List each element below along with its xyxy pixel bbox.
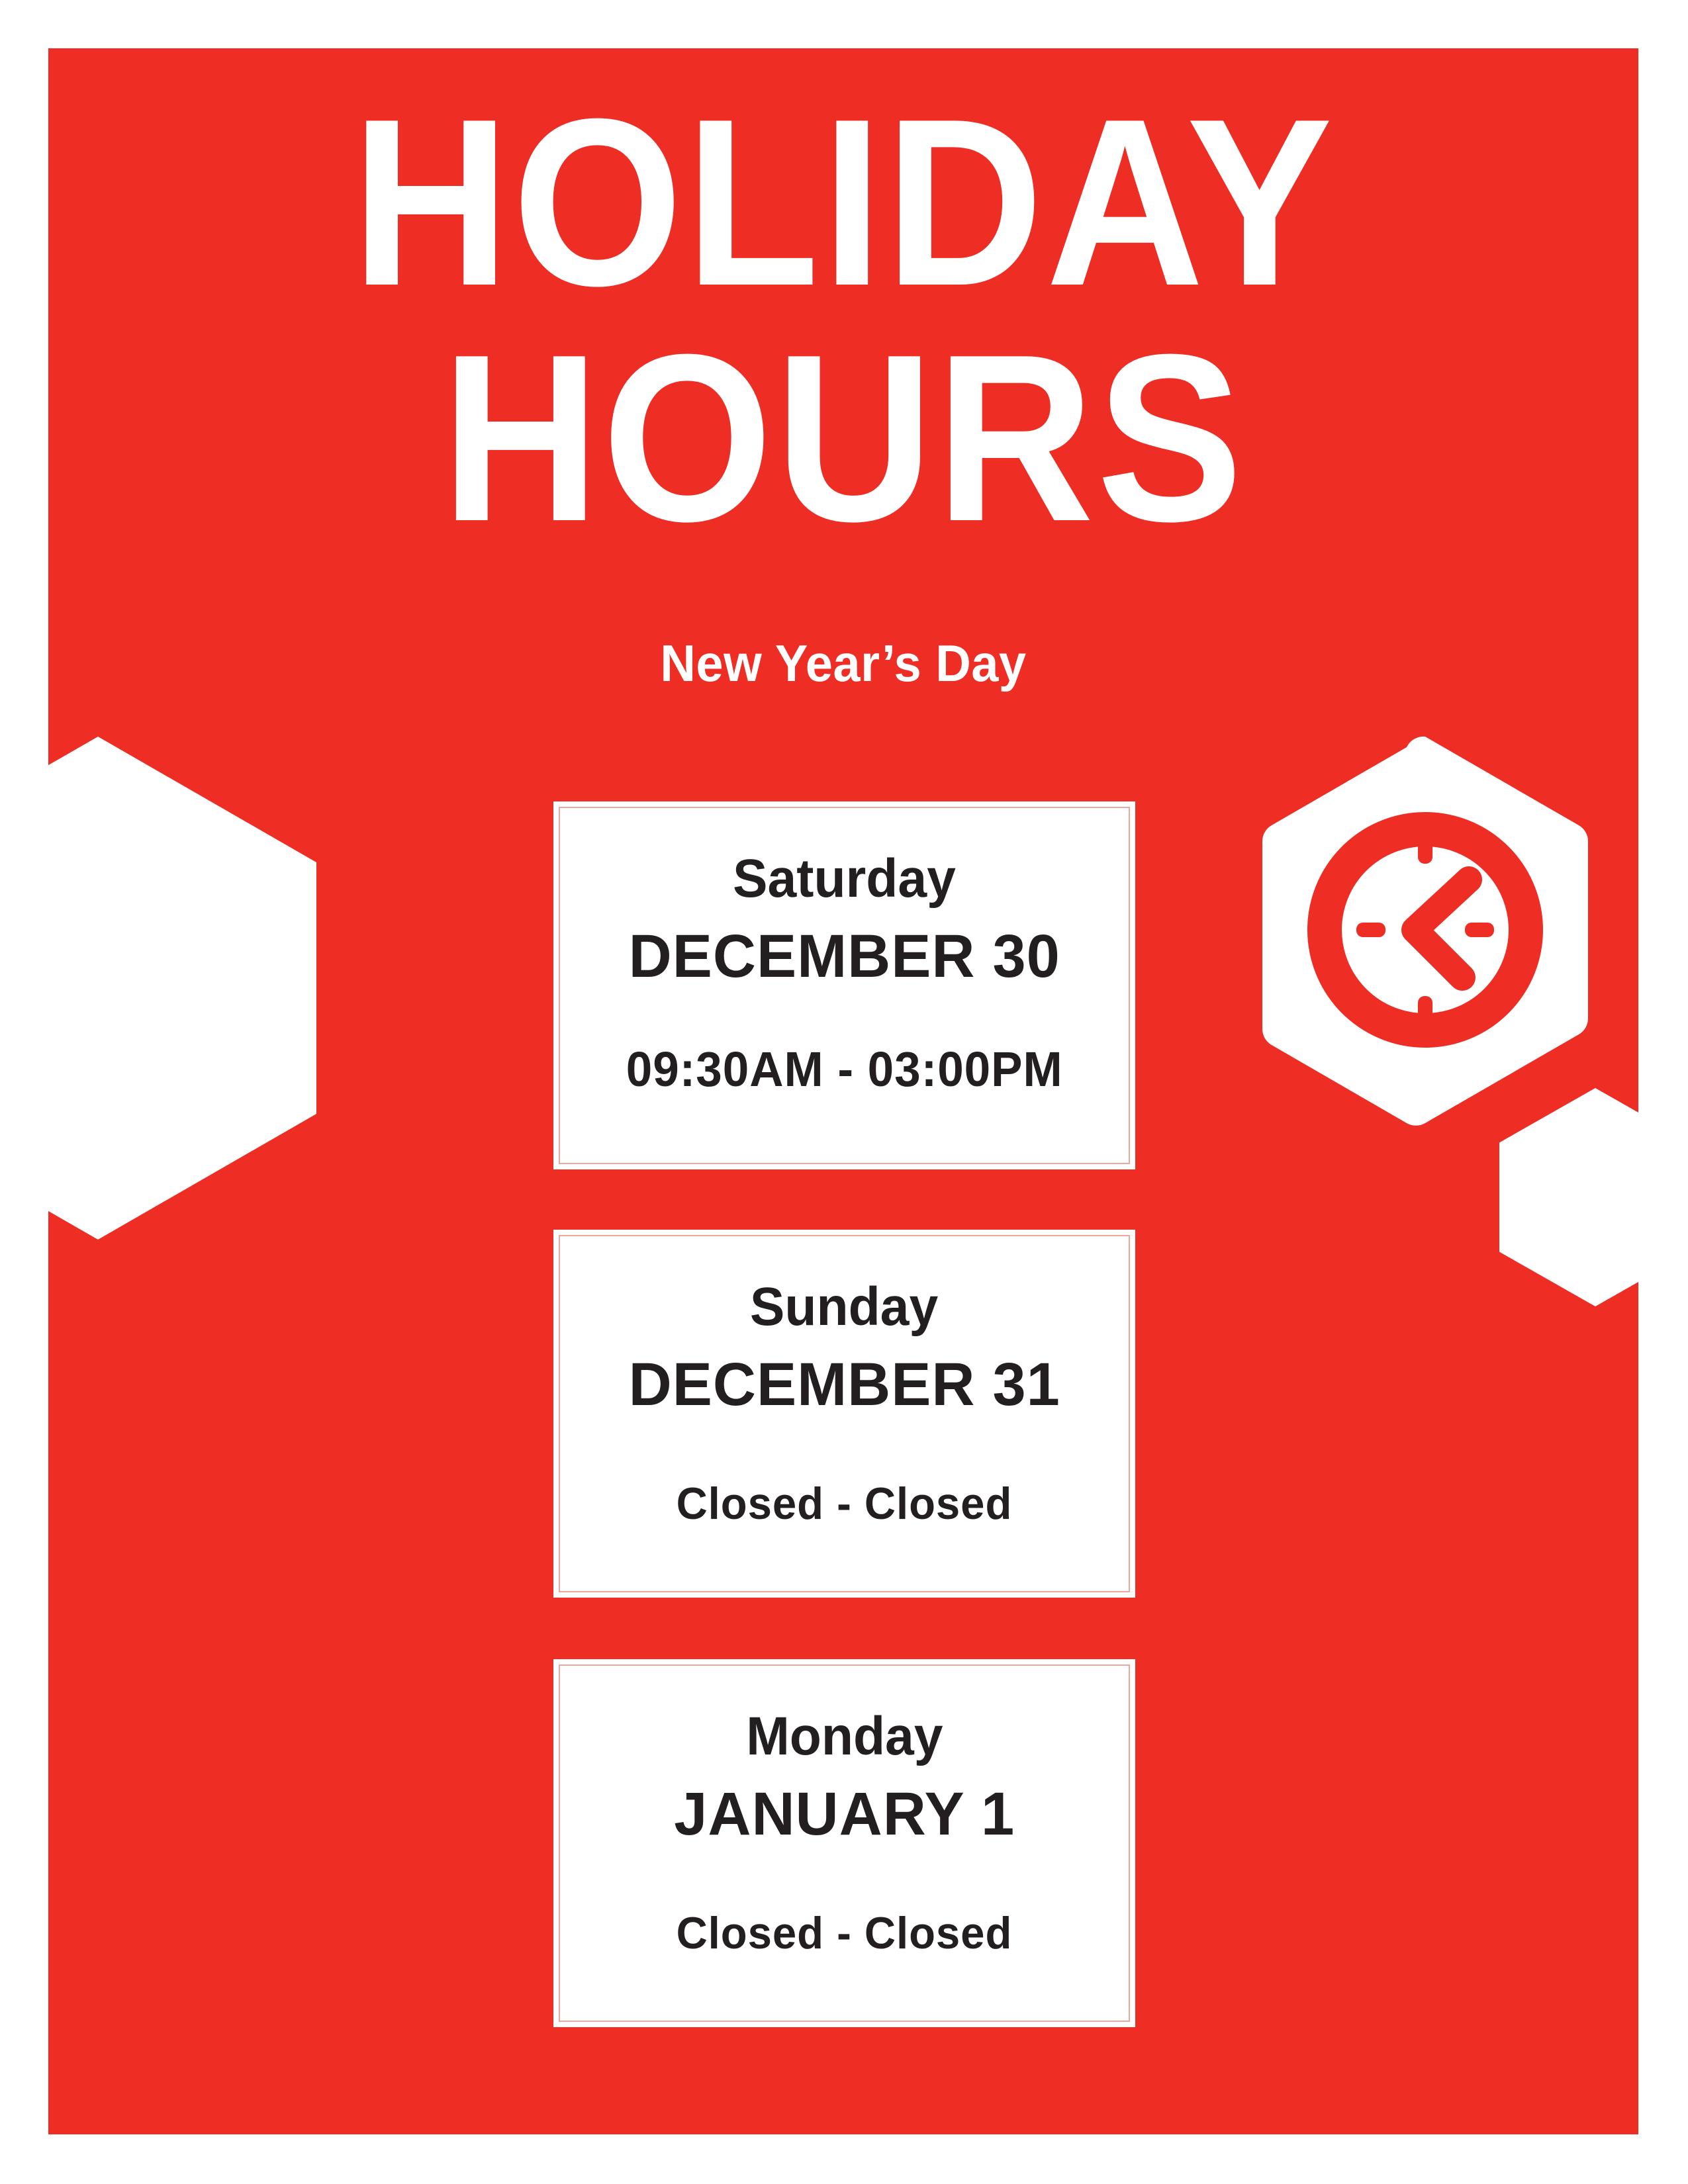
hexagon-bottom-left-decoration xyxy=(48,737,316,1240)
hours-card-time-range: Closed - Closed xyxy=(677,1911,1013,1956)
page-subtitle: New Year’s Day xyxy=(88,637,1599,689)
hours-card-time-range: Closed - Closed xyxy=(677,1481,1013,1526)
hours-card-date: JANUARY 1 xyxy=(674,1784,1015,1844)
clock-hexagon-icon xyxy=(1253,731,1597,1128)
hours-card-inner-frame: Monday JANUARY 1 Closed - Closed xyxy=(559,1664,1130,2022)
hours-card-day-name: Sunday xyxy=(750,1280,938,1334)
hours-card: Saturday DECEMBER 30 09:30AM - 03:00PM xyxy=(553,801,1135,1169)
hours-card-day-name: Monday xyxy=(746,1709,943,1764)
hours-card-date: DECEMBER 31 xyxy=(628,1354,1060,1415)
hours-card-date: DECEMBER 30 xyxy=(628,926,1060,987)
hours-card-inner-frame: Saturday DECEMBER 30 09:30AM - 03:00PM xyxy=(559,807,1130,1164)
page-title-line-1: HOLIDAY xyxy=(112,89,1575,316)
hours-card-day-name: Saturday xyxy=(733,852,956,906)
page-title-line-2: HOURS xyxy=(112,325,1575,551)
hours-card-time-range: 09:30AM - 03:00PM xyxy=(626,1045,1063,1094)
holiday-hours-poster: HOLIDAY HOURS New Year’s Day xyxy=(0,0,1688,2184)
hours-card: Sunday DECEMBER 31 Closed - Closed xyxy=(553,1230,1135,1598)
hours-card: Monday JANUARY 1 Closed - Closed xyxy=(553,1659,1135,2027)
poster-red-panel: HOLIDAY HOURS New Year’s Day xyxy=(48,48,1638,2134)
hours-card-inner-frame: Sunday DECEMBER 31 Closed - Closed xyxy=(559,1235,1130,1592)
